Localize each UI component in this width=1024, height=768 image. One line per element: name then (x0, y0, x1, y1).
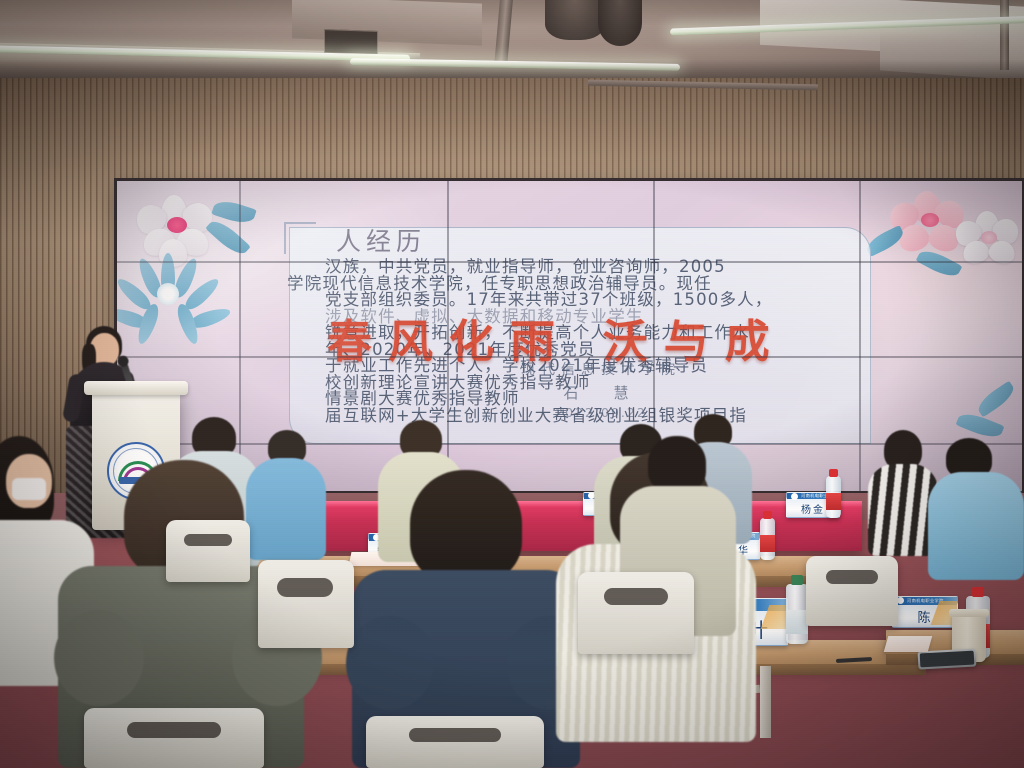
slide-heading: 人经历 (336, 222, 426, 258)
panel-seam (117, 261, 1022, 263)
chair (806, 556, 898, 626)
water-bottle (786, 584, 808, 644)
ceiling-duct (292, 0, 482, 46)
org-logo-icon (791, 493, 798, 500)
signature-date: 2022.09.22 (521, 405, 681, 420)
panel-seam (859, 181, 861, 491)
slide-overlay-title: 春风化雨 沃与成 (327, 305, 1022, 370)
signature-name: 石 慧 (521, 382, 681, 403)
attendee (928, 438, 1024, 578)
chair (578, 572, 694, 654)
desk-leg (760, 666, 771, 738)
ceiling-duct-round (598, 0, 642, 46)
ceiling (0, 0, 1024, 86)
handout-paper (884, 636, 933, 652)
air-vent (324, 29, 378, 55)
org-logo-icon (897, 597, 904, 604)
face-mask (12, 478, 46, 500)
ceiling-duct-round (545, 0, 605, 40)
podium-top (84, 381, 188, 395)
water-bottle (760, 518, 775, 560)
chair (258, 560, 354, 648)
ceiling-pipe (494, 0, 513, 66)
paper-flower-white-icon (953, 211, 1022, 273)
photo-scene: 人经历 汉族，中共党员，就业指导师，创业咨询师，2005 学院现代信息技术学院，… (0, 0, 1024, 768)
chair (166, 520, 250, 582)
chair (366, 716, 544, 768)
panel-seam (117, 356, 1022, 358)
chair (84, 708, 264, 768)
water-bottle (826, 476, 841, 518)
